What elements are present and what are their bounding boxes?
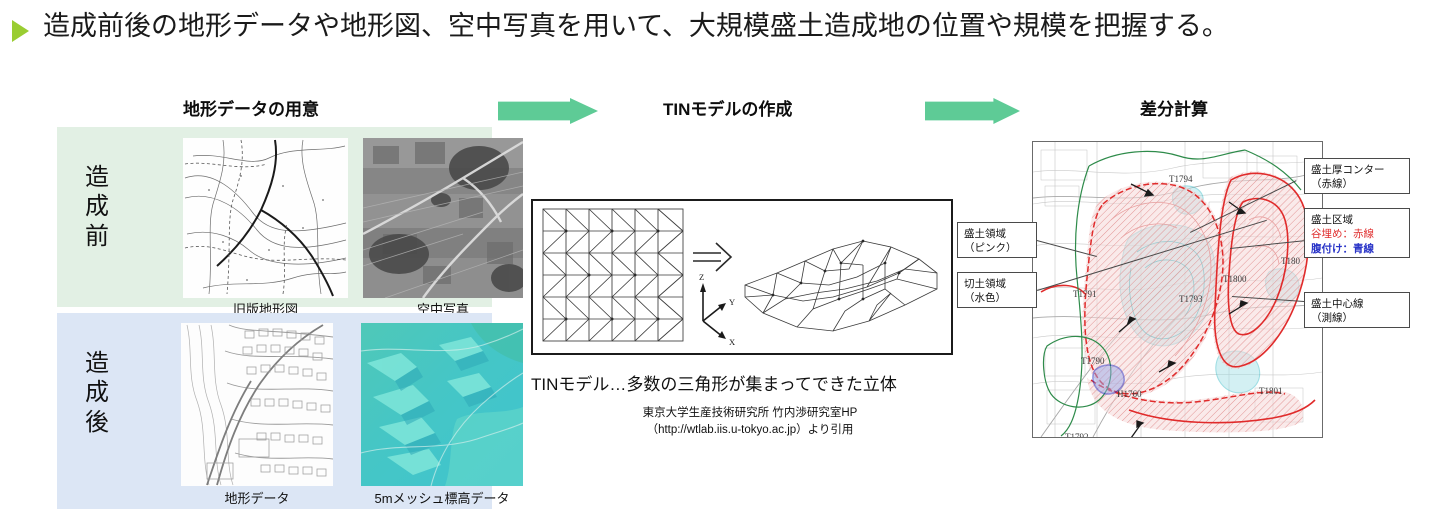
callout-center-line2: （測線） [1311, 311, 1403, 325]
callout-cut-area-line2: （水色） [964, 291, 1030, 305]
map-label-t1790: T1790 [1081, 356, 1105, 366]
triangle-bullet-icon [12, 20, 29, 42]
row-label-before: 造成前 [77, 163, 117, 251]
thumbnail-old-topographic-map [183, 138, 348, 298]
callout-center-line1: 盛土中心線 [1311, 297, 1403, 311]
axis-label-y: Y [729, 297, 735, 307]
thumbnail-5m-mesh-elevation-data [361, 323, 523, 486]
callout-fill-thickness-contour: 盛土厚コンター （赤線） [1304, 158, 1410, 194]
axis-label-z: Z [699, 272, 704, 282]
arrow-tin-to-diff-icon [925, 98, 1020, 124]
caption-terrain-data: 地形データ [181, 488, 333, 507]
tin-source-line-1: 東京大学生産技術研究所 竹内渉研究室HP [560, 405, 940, 422]
tin-model-diagram: Z Y X [531, 199, 953, 355]
callout-fill-area-line2: （ピンク） [964, 241, 1030, 255]
slide-title-row: 造成前後の地形データや地形図、空中写真を用いて、大規模盛土造成地の位置や規模を把… [0, 8, 1420, 45]
map-label-t1800: T1800 [1223, 274, 1247, 284]
difference-calculation-map: T1794 T1790 T1792 T1791 T1793 T1800 T180… [1032, 141, 1323, 438]
map-label-t1801-upper: T180 [1281, 256, 1300, 266]
section-heading-data-prep: 地形データの用意 [183, 95, 319, 120]
map-label-t1792-lower: T1792 [1065, 432, 1089, 437]
map-label-t1791: T1791 [1073, 289, 1097, 299]
map-label-t1793: T1793 [1179, 294, 1203, 304]
callout-fill-zone: 盛土区域 谷埋め：赤線 腹付け：青線 [1304, 208, 1410, 258]
tin-diagram-illustration: Z Y X [533, 201, 947, 349]
tin-model-source: 東京大学生産技術研究所 竹内渉研究室HP （http://wtlab.iis.u… [560, 405, 940, 438]
callout-contour-line1: 盛土厚コンター [1311, 163, 1403, 177]
row-label-after: 造成後 [77, 349, 117, 437]
callout-fill-zone-line2: 谷埋め：赤線 [1311, 227, 1403, 241]
map-label-h1760: H1760 [1117, 389, 1142, 399]
callout-fill-center-line: 盛土中心線 （測線） [1304, 292, 1410, 328]
data-prep-row-after: 造成後 [57, 313, 492, 509]
tin-source-line-2: （http://wtlab.iis.u-tokyo.ac.jp）より引用 [560, 422, 940, 439]
page-title: 造成前後の地形データや地形図、空中写真を用いて、大規模盛土造成地の位置や規模を把… [43, 8, 1403, 45]
mesh-elevation-illustration [361, 323, 523, 486]
callout-cut-area: 切土領域 （水色） [957, 272, 1037, 308]
arrow-data-to-tin-icon [498, 98, 598, 124]
axis-label-x: X [729, 337, 735, 347]
tin-model-caption: TINモデル…多数の三角形が集まってできた立体 [531, 370, 961, 395]
thumbnail-terrain-data-map [181, 323, 333, 486]
aerial-photo-illustration [363, 138, 523, 298]
callout-contour-line2: （赤線） [1311, 177, 1403, 191]
map-label-t1801: T1801 [1259, 386, 1283, 396]
terrain-data-map-illustration [181, 323, 333, 486]
callout-fill-zone-line1: 盛土区域 [1311, 213, 1403, 227]
data-prep-row-before: 造成前 [57, 127, 492, 307]
callout-cut-area-line1: 切土領域 [964, 277, 1030, 291]
caption-mesh-elevation-data: 5mメッシュ標高データ [353, 488, 531, 507]
section-heading-difference: 差分計算 [1140, 95, 1208, 120]
thumbnail-aerial-photo [363, 138, 523, 298]
old-topographic-map-illustration [183, 138, 348, 298]
section-heading-tin-model: TINモデルの作成 [663, 95, 792, 120]
difference-map-illustration: T1794 T1790 T1792 T1791 T1793 T1800 T180… [1033, 142, 1322, 437]
map-label-t1794: T1794 [1169, 174, 1193, 184]
callout-fill-area-line1: 盛土領域 [964, 227, 1030, 241]
callout-fill-area: 盛土領域 （ピンク） [957, 222, 1037, 258]
callout-fill-zone-line3: 腹付け：青線 [1311, 242, 1403, 256]
